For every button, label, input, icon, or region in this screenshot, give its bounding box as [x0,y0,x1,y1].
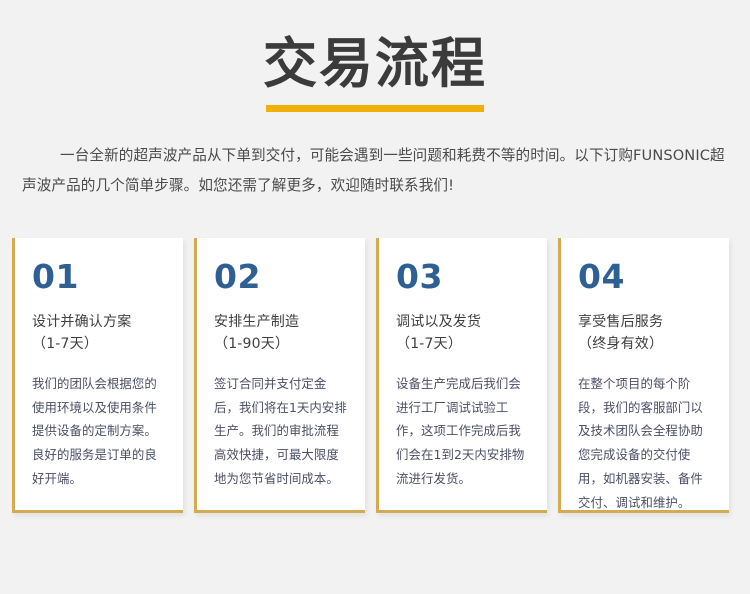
step-heading-duration: （1-7天） [396,333,531,355]
process-step-card-04: 04 享受售后服务 （终身有效） 在整个项目的每个阶段，我们的客服部门以及技术团… [558,238,729,513]
step-description: 设备生产完成后我们会进行工厂调试试验工作，这项工作完成后我们会在1到2天内安排物… [396,372,531,491]
process-step-card-03: 03 调试以及发货 （1-7天） 设备生产完成后我们会进行工厂调试试验工作，这项… [376,238,547,513]
step-description: 在整个项目的每个阶段，我们的客服部门以及技术团队会全程协助您完成设备的交付使用，… [578,372,713,515]
step-heading-main: 安排生产制造 [214,314,299,330]
step-description: 我们的团队会根据您的使用环境以及使用条件提供设备的定制方案。良好的服务是订单的良… [32,372,167,491]
process-step-card-02: 02 安排生产制造 （1-90天） 签订合同并支付定金后，我们将在1天内安排生产… [194,238,365,513]
step-heading: 设计并确认方案 （1-7天） [32,311,167,356]
step-heading-duration: （1-90天） [214,333,349,355]
page-title: 交易流程 [0,34,750,94]
step-number: 03 [396,260,531,293]
process-steps-list: 01 设计并确认方案 （1-7天） 我们的团队会根据您的使用环境以及使用条件提供… [12,238,738,513]
intro-text: 一台全新的超声波产品从下单到交付，可能会遇到一些问题和耗费不等的时间。以下订购F… [22,147,725,193]
intro-paragraph: 一台全新的超声波产品从下单到交付，可能会遇到一些问题和耗费不等的时间。以下订购F… [22,141,728,199]
step-heading: 安排生产制造 （1-90天） [214,311,349,356]
process-flow-page: 交易流程 一台全新的超声波产品从下单到交付，可能会遇到一些问题和耗费不等的时间。… [0,0,750,594]
step-description: 签订合同并支付定金后，我们将在1天内安排生产。我们的审批流程高效快捷，可最大限度… [214,372,349,491]
step-heading: 调试以及发货 （1-7天） [396,311,531,356]
step-heading: 享受售后服务 （终身有效） [578,311,713,356]
step-heading-duration: （终身有效） [578,333,713,355]
process-step-card-01: 01 设计并确认方案 （1-7天） 我们的团队会根据您的使用环境以及使用条件提供… [12,238,183,513]
step-number: 01 [32,260,167,293]
title-underline-divider [266,105,484,112]
step-heading-main: 调试以及发货 [396,314,481,330]
step-heading-main: 享受售后服务 [578,314,663,330]
step-heading-duration: （1-7天） [32,333,167,355]
step-number: 04 [578,260,713,293]
step-heading-main: 设计并确认方案 [32,314,131,330]
page-header: 交易流程 [0,0,750,112]
step-number: 02 [214,260,349,293]
